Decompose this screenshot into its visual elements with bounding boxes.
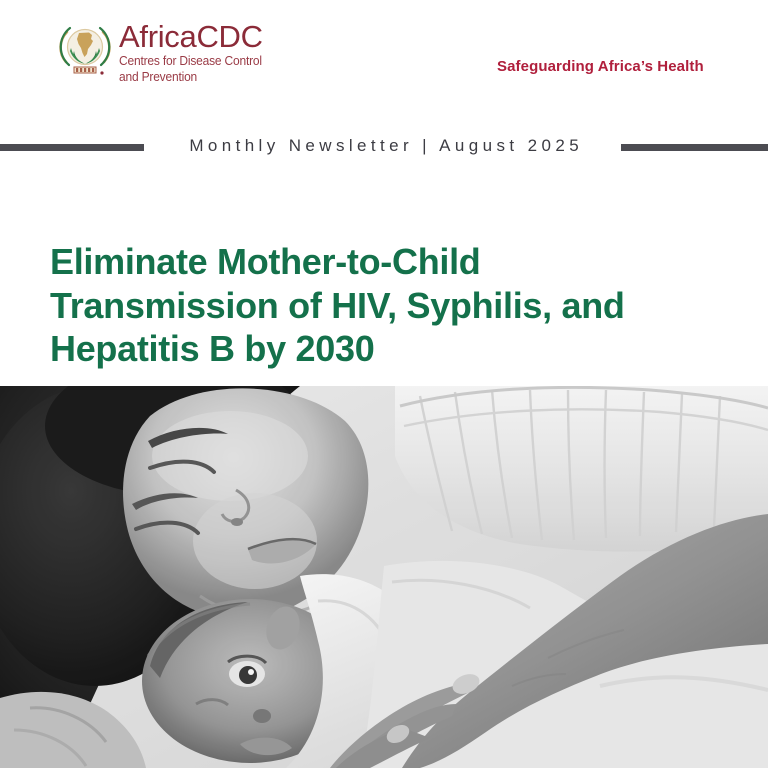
- africacdc-logo: AfricaCDC Centres for Disease Control an…: [57, 18, 268, 85]
- mother-and-newborn-photo: [0, 386, 768, 768]
- page-title-line-2: Transmission of HIV, Syphilis, and: [50, 284, 710, 328]
- page-header: AfricaCDC Centres for Disease Control an…: [0, 0, 768, 118]
- brand-wordmark: AfricaCDC Centres for Disease Control an…: [119, 18, 268, 85]
- page-title-line-3: Hepatitis B by 2030: [50, 327, 710, 371]
- page-title: Eliminate Mother-to-Child Transmission o…: [50, 240, 710, 371]
- brand-subtitle-line-1: Centres for Disease Control: [119, 54, 262, 69]
- brand-name: AfricaCDC: [119, 20, 268, 53]
- africa-union-emblem-icon: [57, 18, 113, 80]
- band-rule-right: [621, 144, 768, 151]
- newsletter-cover: AfricaCDC Centres for Disease Control an…: [0, 0, 768, 768]
- page-title-line-1: Eliminate Mother-to-Child: [50, 240, 710, 284]
- brand-subtitle-line-2: and Prevention: [119, 70, 262, 85]
- tagline: Safeguarding Africa’s Health: [497, 58, 704, 75]
- newsletter-band: Monthly Newsletter | August 2025: [0, 131, 768, 163]
